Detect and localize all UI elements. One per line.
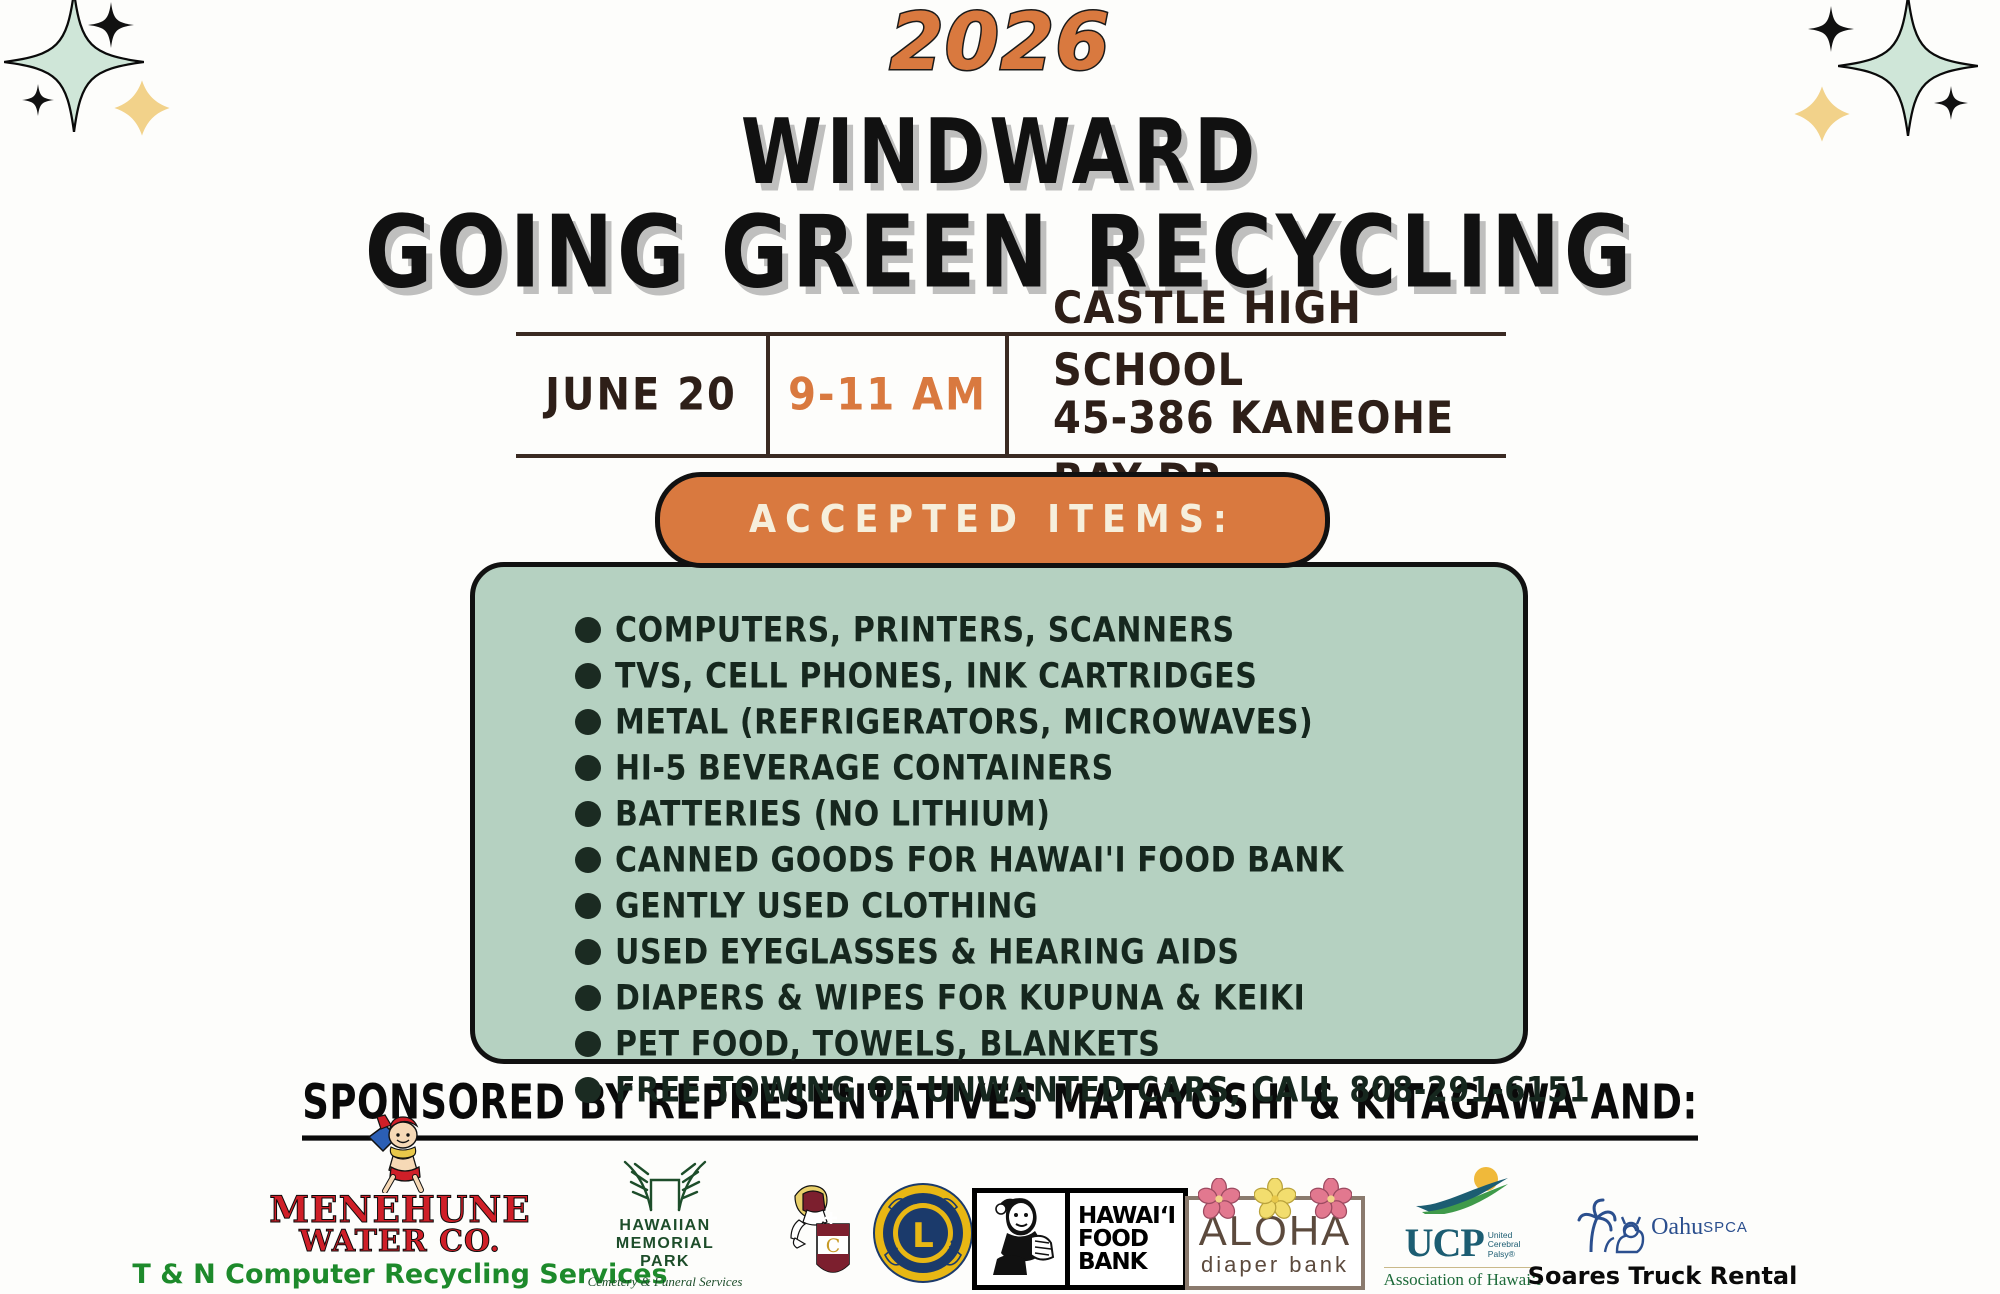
list-item-label: CANNED GOODS FOR HAWAI'I FOOD BANK: [615, 840, 1344, 881]
page-title: WINDWARD GOING GREEN RECYCLING: [0, 110, 2000, 284]
logo-aloha-diaper-bank: ALOHA diaper bank: [1180, 1196, 1370, 1290]
title-line-1: WINDWARD: [0, 110, 2000, 196]
ucp-mark: UCP: [1405, 1219, 1484, 1266]
food-bank-lockup: HAWAI‘I FOOD BANK: [972, 1188, 1188, 1290]
sponsor-logo-row: MENEHUNE WATER CO. T & N Computer Recycl…: [0, 1150, 2000, 1290]
event-info-band: JUNE 20 9-11 AM CASTLE HIGH SCHOOL 45-38…: [516, 332, 1506, 458]
list-item-label: METAL (REFRIGERATORS, MICROWAVES): [615, 702, 1313, 743]
food-bank-line1: HAWAI‘I: [1078, 1205, 1175, 1228]
bullet-icon: [575, 893, 601, 919]
spca-lockup: Oahu SPCA: [1577, 1196, 1748, 1258]
hmp-fern-icon: [617, 1150, 713, 1217]
bullet-icon: [575, 663, 601, 689]
event-location-cell: CASTLE HIGH SCHOOL 45-386 KANEOHE BAY DR…: [1009, 336, 1506, 454]
bullet-icon: [575, 709, 601, 735]
bullet-icon: [575, 801, 601, 827]
logo-oahu-spca-soares: Oahu SPCA Soares Truck Rental: [1555, 1196, 1770, 1290]
adb-frame: ALOHA diaper bank: [1185, 1196, 1365, 1290]
ucp-sub: Association of Hawai‘i: [1384, 1267, 1542, 1290]
food-bank-wordmark: HAWAI‘I FOOD BANK: [1070, 1193, 1183, 1285]
plumeria-flowers-icon: [1189, 1178, 1361, 1220]
list-item: DIAPERS & WIPES FOR KUPUNA & KEIKI: [575, 978, 1590, 1018]
menehune-brand-line2: WATER CO.: [299, 1227, 501, 1257]
logo-menehune-water: MENEHUNE WATER CO. T & N Computer Recycl…: [230, 1111, 570, 1290]
soares-truck-rental-label: Soares Truck Rental: [1528, 1262, 1798, 1290]
list-item-label: GENTLY USED CLOTHING: [615, 886, 1038, 927]
accepted-items-header-pill: ACCEPTED ITEMS:: [655, 472, 1330, 568]
hmp-line2: PARK: [640, 1253, 690, 1271]
event-date-cell: JUNE 20: [516, 336, 770, 454]
list-item-label: USED EYEGLASSES & HEARING AIDS: [615, 932, 1240, 973]
hmp-sub: Cemetery & Funeral Services: [588, 1274, 743, 1290]
logo-hawaii-food-bank: HAWAI‘I FOOD BANK: [980, 1188, 1180, 1290]
list-item: TVS, CELL PHONES, INK CARTRIDGES: [575, 656, 1590, 696]
list-item-label: PET FOOD, TOWELS, BLANKETS: [615, 1024, 1160, 1065]
list-item: CANNED GOODS FOR HAWAI'I FOOD BANK: [575, 840, 1590, 880]
list-item: BATTERIES (NO LITHIUM): [575, 794, 1590, 834]
list-item-label: BATTERIES (NO LITHIUM): [615, 794, 1051, 835]
year-heading: 2026: [0, 4, 2000, 82]
lions-emblem-icon: L LIONS INTERNATIONAL: [871, 1181, 975, 1290]
list-item-label: COMPUTERS, PRINTERS, SCANNERS: [615, 610, 1235, 651]
ucp-wordmark: UCP United Cerebral Palsy®: [1405, 1219, 1521, 1266]
list-item: COMPUTERS, PRINTERS, SCANNERS: [575, 610, 1590, 650]
event-venue: CASTLE HIGH SCHOOL: [1053, 278, 1506, 402]
list-item: METAL (REFRIGERATORS, MICROWAVES): [575, 702, 1590, 742]
spca-palm-animals-icon: [1577, 1196, 1651, 1258]
list-item: USED EYEGLASSES & HEARING AIDS: [575, 932, 1590, 972]
food-bank-line3: BANK: [1078, 1251, 1175, 1274]
ucp-small-3: Palsy®: [1488, 1249, 1515, 1259]
title-line-2: GOING GREEN RECYCLING: [0, 206, 2000, 301]
list-item: GENTLY USED CLOTHING: [575, 886, 1590, 926]
bullet-icon: [575, 755, 601, 781]
logo-knight-crest: C: [760, 1180, 865, 1290]
hmp-line1: HAWAIIAN MEMORIAL: [570, 1217, 760, 1253]
poster-canvas: 2026 WINDWARD GOING GREEN RECYCLING JUNE…: [0, 0, 2000, 1294]
event-time: 9-11 AM: [788, 369, 987, 421]
menehune-mascot-icon: [363, 1111, 437, 1193]
knight-crest-icon: C: [773, 1180, 853, 1290]
spca-oahu-label: Oahu: [1651, 1214, 1703, 1241]
list-item-label: FREE TOWING OF UNWANTED CARS, CALL 808-2…: [615, 1070, 1590, 1111]
ucp-small-text: United Cerebral Palsy®: [1488, 1231, 1521, 1266]
ucp-small-1: United: [1488, 1230, 1513, 1240]
bullet-icon: [575, 1077, 601, 1103]
adb-line2: diaper bank: [1199, 1252, 1351, 1278]
event-time-cell: 9-11 AM: [770, 336, 1009, 454]
ucp-small-2: Cerebral: [1488, 1239, 1521, 1249]
list-item-label: HI-5 BEVERAGE CONTAINERS: [615, 748, 1114, 789]
bullet-icon: [575, 1031, 601, 1057]
menehune-brand-line1: MENEHUNE: [269, 1193, 530, 1227]
ucp-swoosh-icon: [1408, 1166, 1518, 1219]
bullet-icon: [575, 847, 601, 873]
bullet-icon: [575, 939, 601, 965]
svg-text:C: C: [825, 1235, 840, 1257]
logo-lions-international: L LIONS INTERNATIONAL: [865, 1181, 980, 1290]
list-item: HI-5 BEVERAGE CONTAINERS: [575, 748, 1590, 788]
spca-label: SPCA: [1703, 1219, 1748, 1236]
logo-hawaiian-memorial-park: HAWAIIAN MEMORIAL PARK Cemetery & Funera…: [570, 1150, 760, 1290]
list-item: FREE TOWING OF UNWANTED CARS, CALL 808-2…: [575, 1070, 1590, 1110]
svg-text:L: L: [912, 1216, 934, 1256]
food-bank-line2: FOOD: [1078, 1228, 1175, 1251]
accepted-items-heading: ACCEPTED ITEMS:: [749, 498, 1236, 542]
bullet-icon: [575, 985, 601, 1011]
list-item: PET FOOD, TOWELS, BLANKETS: [575, 1024, 1590, 1064]
list-item-label: TVS, CELL PHONES, INK CARTRIDGES: [615, 656, 1257, 697]
accepted-items-list: COMPUTERS, PRINTERS, SCANNERS TVS, CELL …: [575, 610, 1590, 1116]
bullet-icon: [575, 617, 601, 643]
food-bank-woman-icon: [977, 1193, 1070, 1285]
list-item-label: DIAPERS & WIPES FOR KUPUNA & KEIKI: [615, 978, 1305, 1019]
event-date: JUNE 20: [545, 369, 737, 421]
